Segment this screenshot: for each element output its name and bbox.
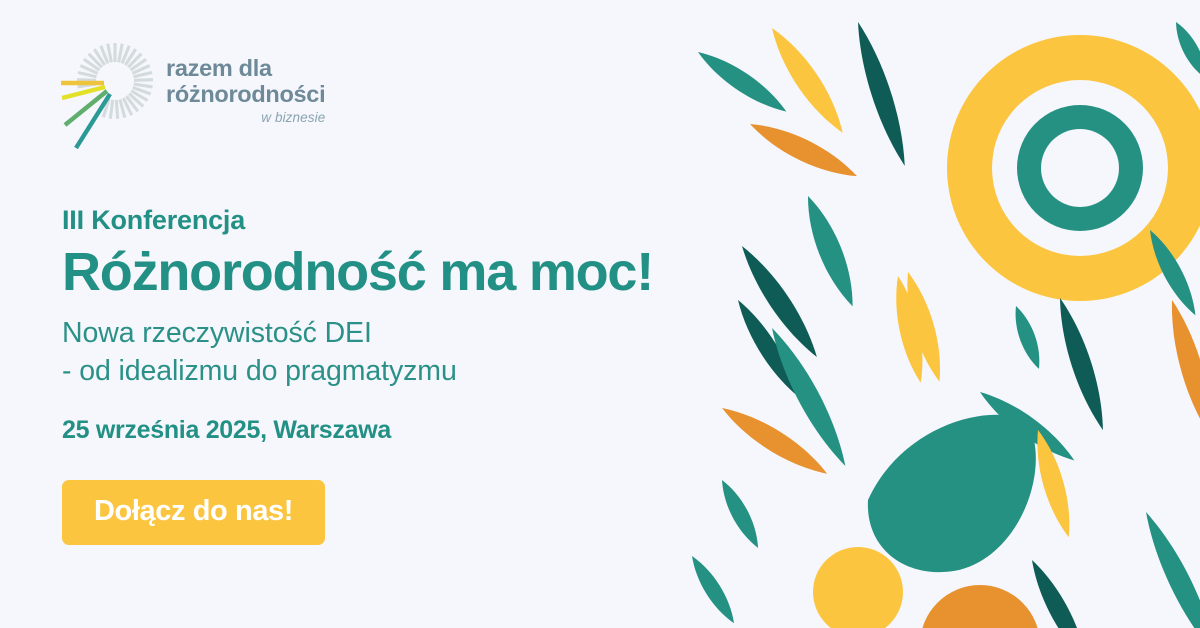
eyebrow-text: III Konferencja <box>62 205 702 236</box>
logo-wordmark: razem dla różnorodności w biznesie <box>166 36 325 125</box>
logo-tagline: w biznesie <box>166 110 325 125</box>
logo-line-2: różnorodności <box>166 81 325 107</box>
conference-banner: razem dla różnorodności w biznesie III K… <box>0 0 1200 628</box>
brand-logo[interactable]: razem dla różnorodności w biznesie <box>58 36 325 154</box>
subtitle-line-1: Nowa rzeczywistość DEI <box>62 315 702 353</box>
subtitle: Nowa rzeczywistość DEI - od idealizmu do… <box>62 315 702 390</box>
sunburst-circle-icon <box>58 36 162 154</box>
decorative-leaf-pattern <box>680 0 1200 628</box>
join-us-button[interactable]: Dołącz do nas! <box>62 480 325 545</box>
main-copy-block: III Konferencja Różnorodność ma moc! Now… <box>62 205 702 545</box>
page-title: Różnorodność ma moc! <box>62 243 702 301</box>
event-date-location: 25 września 2025, Warszawa <box>62 416 702 445</box>
logo-line-1: razem dla <box>166 55 325 81</box>
subtitle-line-2: - od idealizmu do pragmatyzmu <box>62 353 702 391</box>
